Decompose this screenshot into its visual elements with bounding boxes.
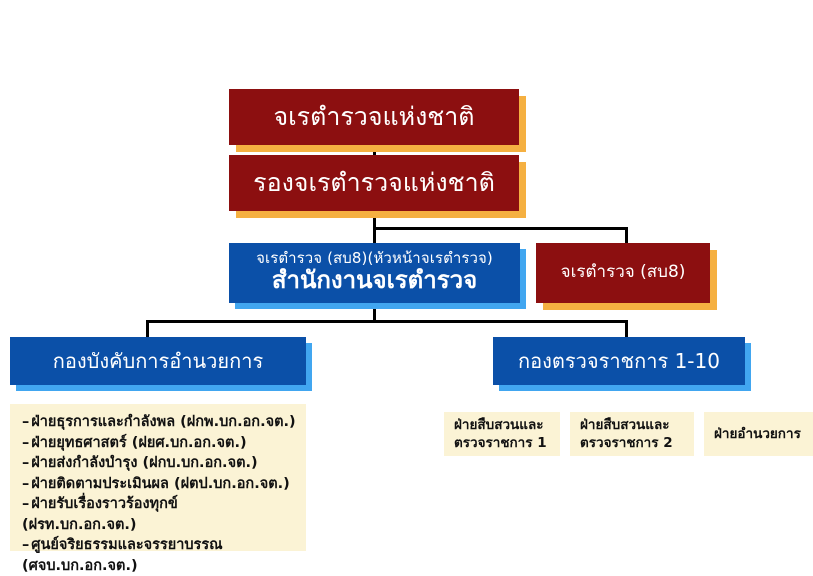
node-inspector-sb8[interactable]: จเรตำรวจ (สบ8)	[536, 243, 710, 303]
list-item-label: ฝ่ายธุรการและกำลังพล (ฝกพ.บก.อก.จต.)	[31, 414, 295, 430]
list-item: –ฝ่ายติดตามประเมินผล (ฝตป.บก.อก.จต.)	[22, 474, 296, 495]
bullet-dash: –	[22, 496, 29, 512]
bullet-dash: –	[22, 476, 29, 492]
inspection-subunit-cell: ฝ่ายสืบสวนและ ตรวจราชการ 2	[570, 412, 694, 456]
connector-bus-level4	[146, 320, 628, 323]
list-item-label: ฝ่ายยุทธศาสตร์ (ฝยศ.บก.อก.จต.)	[31, 435, 246, 451]
list-item: –ฝ่ายยุทธศาสตร์ (ฝยศ.บก.อก.จต.)	[22, 433, 296, 454]
org-chart-root: จเรตำรวจแห่งชาติ รองจเรตำรวจแห่งชาติ จเร…	[0, 0, 813, 576]
node-inspector-label: จเรตำรวจ (สบ8)	[561, 263, 686, 282]
admin-division-subunits-list: –ฝ่ายธุรการและกำลังพล (ฝกพ.บก.อก.จต.) –ฝ…	[22, 412, 296, 576]
list-item: –ฝ่ายส่งกำลังบำรุง (ฝกบ.บก.อก.จต.)	[22, 453, 296, 474]
node-administration-command-division[interactable]: กองบังคับการอำนวยการ	[10, 337, 306, 385]
node-deputy-chief-of-national-police[interactable]: รองจเรตำรวจแห่งชาติ	[229, 155, 519, 211]
bullet-dash: –	[22, 414, 29, 430]
bullet-dash: –	[22, 435, 29, 451]
list-item-label: ฝ่ายติดตามประเมินผล (ฝตป.บก.อก.จต.)	[31, 476, 290, 492]
node-deputy-label: รองจเรตำรวจแห่งชาติ	[253, 169, 495, 197]
node-inspection-division-label: กองตรวจราชการ 1-10	[518, 350, 720, 372]
node-chief-of-national-police[interactable]: จเรตำรวจแห่งชาติ	[229, 89, 519, 145]
node-chief-label: จเรตำรวจแห่งชาติ	[273, 103, 474, 131]
node-office-subtitle: จเรตำรวจ (สบ8)(หัวหน้าจเรตำรวจ)	[256, 250, 493, 267]
node-inspection-division-1-10[interactable]: กองตรวจราชการ 1-10	[493, 337, 745, 385]
list-item: –ฝ่ายธุรการและกำลังพล (ฝกพ.บก.อก.จต.)	[22, 412, 296, 433]
connector-to-inspection-division	[625, 320, 628, 338]
bullet-dash: –	[22, 537, 29, 553]
connector-to-admin-division	[146, 320, 149, 338]
list-item-label: ศูนย์จริยธรรมและจรรยาบรรณ (ศจบ.บก.อก.จต.…	[22, 537, 223, 574]
list-item-label: ฝ่ายรับเรื่องราวร้องทุกข์ (ฝรท.บก.อก.จต.…	[22, 496, 178, 533]
inspection-subunit-cell: ฝ่ายสืบสวนและ ตรวจราชการ 1	[444, 412, 560, 456]
bullet-dash: –	[22, 455, 29, 471]
admin-division-subunits-panel: –ฝ่ายธุรการและกำลังพล (ฝกพ.บก.อก.จต.) –ฝ…	[10, 404, 306, 551]
node-office-of-inspector[interactable]: จเรตำรวจ (สบ8)(หัวหน้าจเรตำรวจ) สำนักงาน…	[229, 243, 520, 303]
connector-to-office	[373, 227, 376, 244]
node-office-title: สำนักงานจเรตำรวจ	[272, 267, 477, 294]
list-item-label: ฝ่ายส่งกำลังบำรุง (ฝกบ.บก.อก.จต.)	[31, 455, 257, 471]
inspection-subunit-cell: ฝ่ายอำนวยการ	[704, 412, 813, 456]
connector-bus-level3	[373, 227, 628, 230]
connector-to-inspector	[625, 227, 628, 244]
list-item: –ศูนย์จริยธรรมและจรรยาบรรณ (ศจบ.บก.อก.จต…	[22, 535, 296, 576]
list-item: –ฝ่ายรับเรื่องราวร้องทุกข์ (ฝรท.บก.อก.จต…	[22, 494, 296, 535]
node-admin-division-label: กองบังคับการอำนวยการ	[53, 350, 263, 372]
